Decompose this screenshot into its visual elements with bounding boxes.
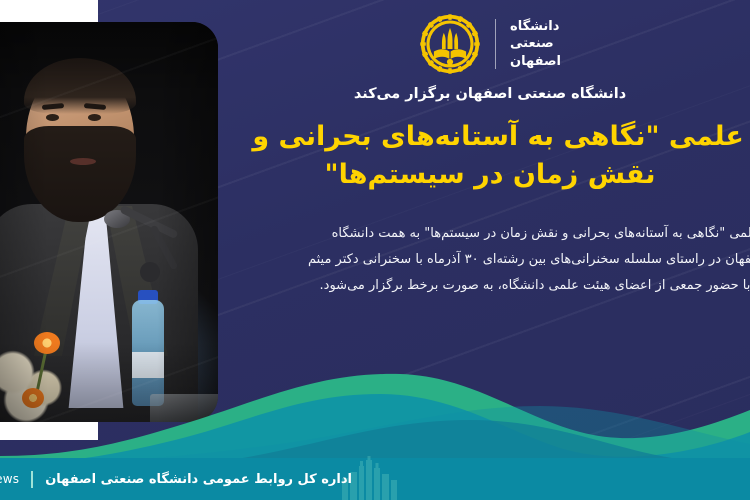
logo-line-2: صنعتی (510, 35, 554, 52)
event-headline-line-2: نقش زمان در سیستم‌ها" (244, 156, 736, 194)
event-headline-line-1: سمینار علمی "نگاهی به آستانه‌های بحرانی … (244, 118, 750, 156)
event-description-line-1: سمینار علمی "نگاهی به آستانه‌های بحرانی … (244, 221, 750, 247)
footer-organization: اداره کل روابط عمومی دانشگاه صنعتی اصفها… (45, 472, 352, 487)
event-kicker: دانشگاه صنعتی اصفهان برگزار می‌کند (244, 86, 736, 102)
poster-canvas: دانشگاه صنعتی اصفهان (0, 0, 750, 500)
content-column: دانشگاه صنعتی اصفهان (238, 0, 750, 299)
event-description-line-3: رفیعی و با حضور جمعی از اعضای هیئت علمی … (244, 273, 750, 299)
logo-line-3: اصفهان (510, 53, 561, 70)
footer-divider (31, 471, 33, 488)
iut-gear-book-logo-icon (419, 13, 481, 75)
event-headline: سمینار علمی "نگاهی به آستانه‌های بحرانی … (244, 118, 736, 195)
logo-divider (495, 19, 496, 69)
logo-line-1: دانشگاه (510, 18, 559, 35)
event-description-line-2: صنعتی اصفهان در راستای سلسله سخنرانی‌های… (244, 247, 750, 273)
logo-wordmark: دانشگاه صنعتی اصفهان (510, 18, 561, 69)
footer-bar: اداره کل روابط عمومی دانشگاه صنعتی اصفها… (0, 458, 750, 500)
event-description: سمینار علمی "نگاهی به آستانه‌های بحرانی … (244, 221, 736, 299)
logo-row: دانشگاه صنعتی اصفهان (244, 0, 736, 72)
footer-content: اداره کل روابط عمومی دانشگاه صنعتی اصفها… (0, 471, 352, 488)
footer-handle[interactable]: @iut_news (0, 472, 19, 486)
